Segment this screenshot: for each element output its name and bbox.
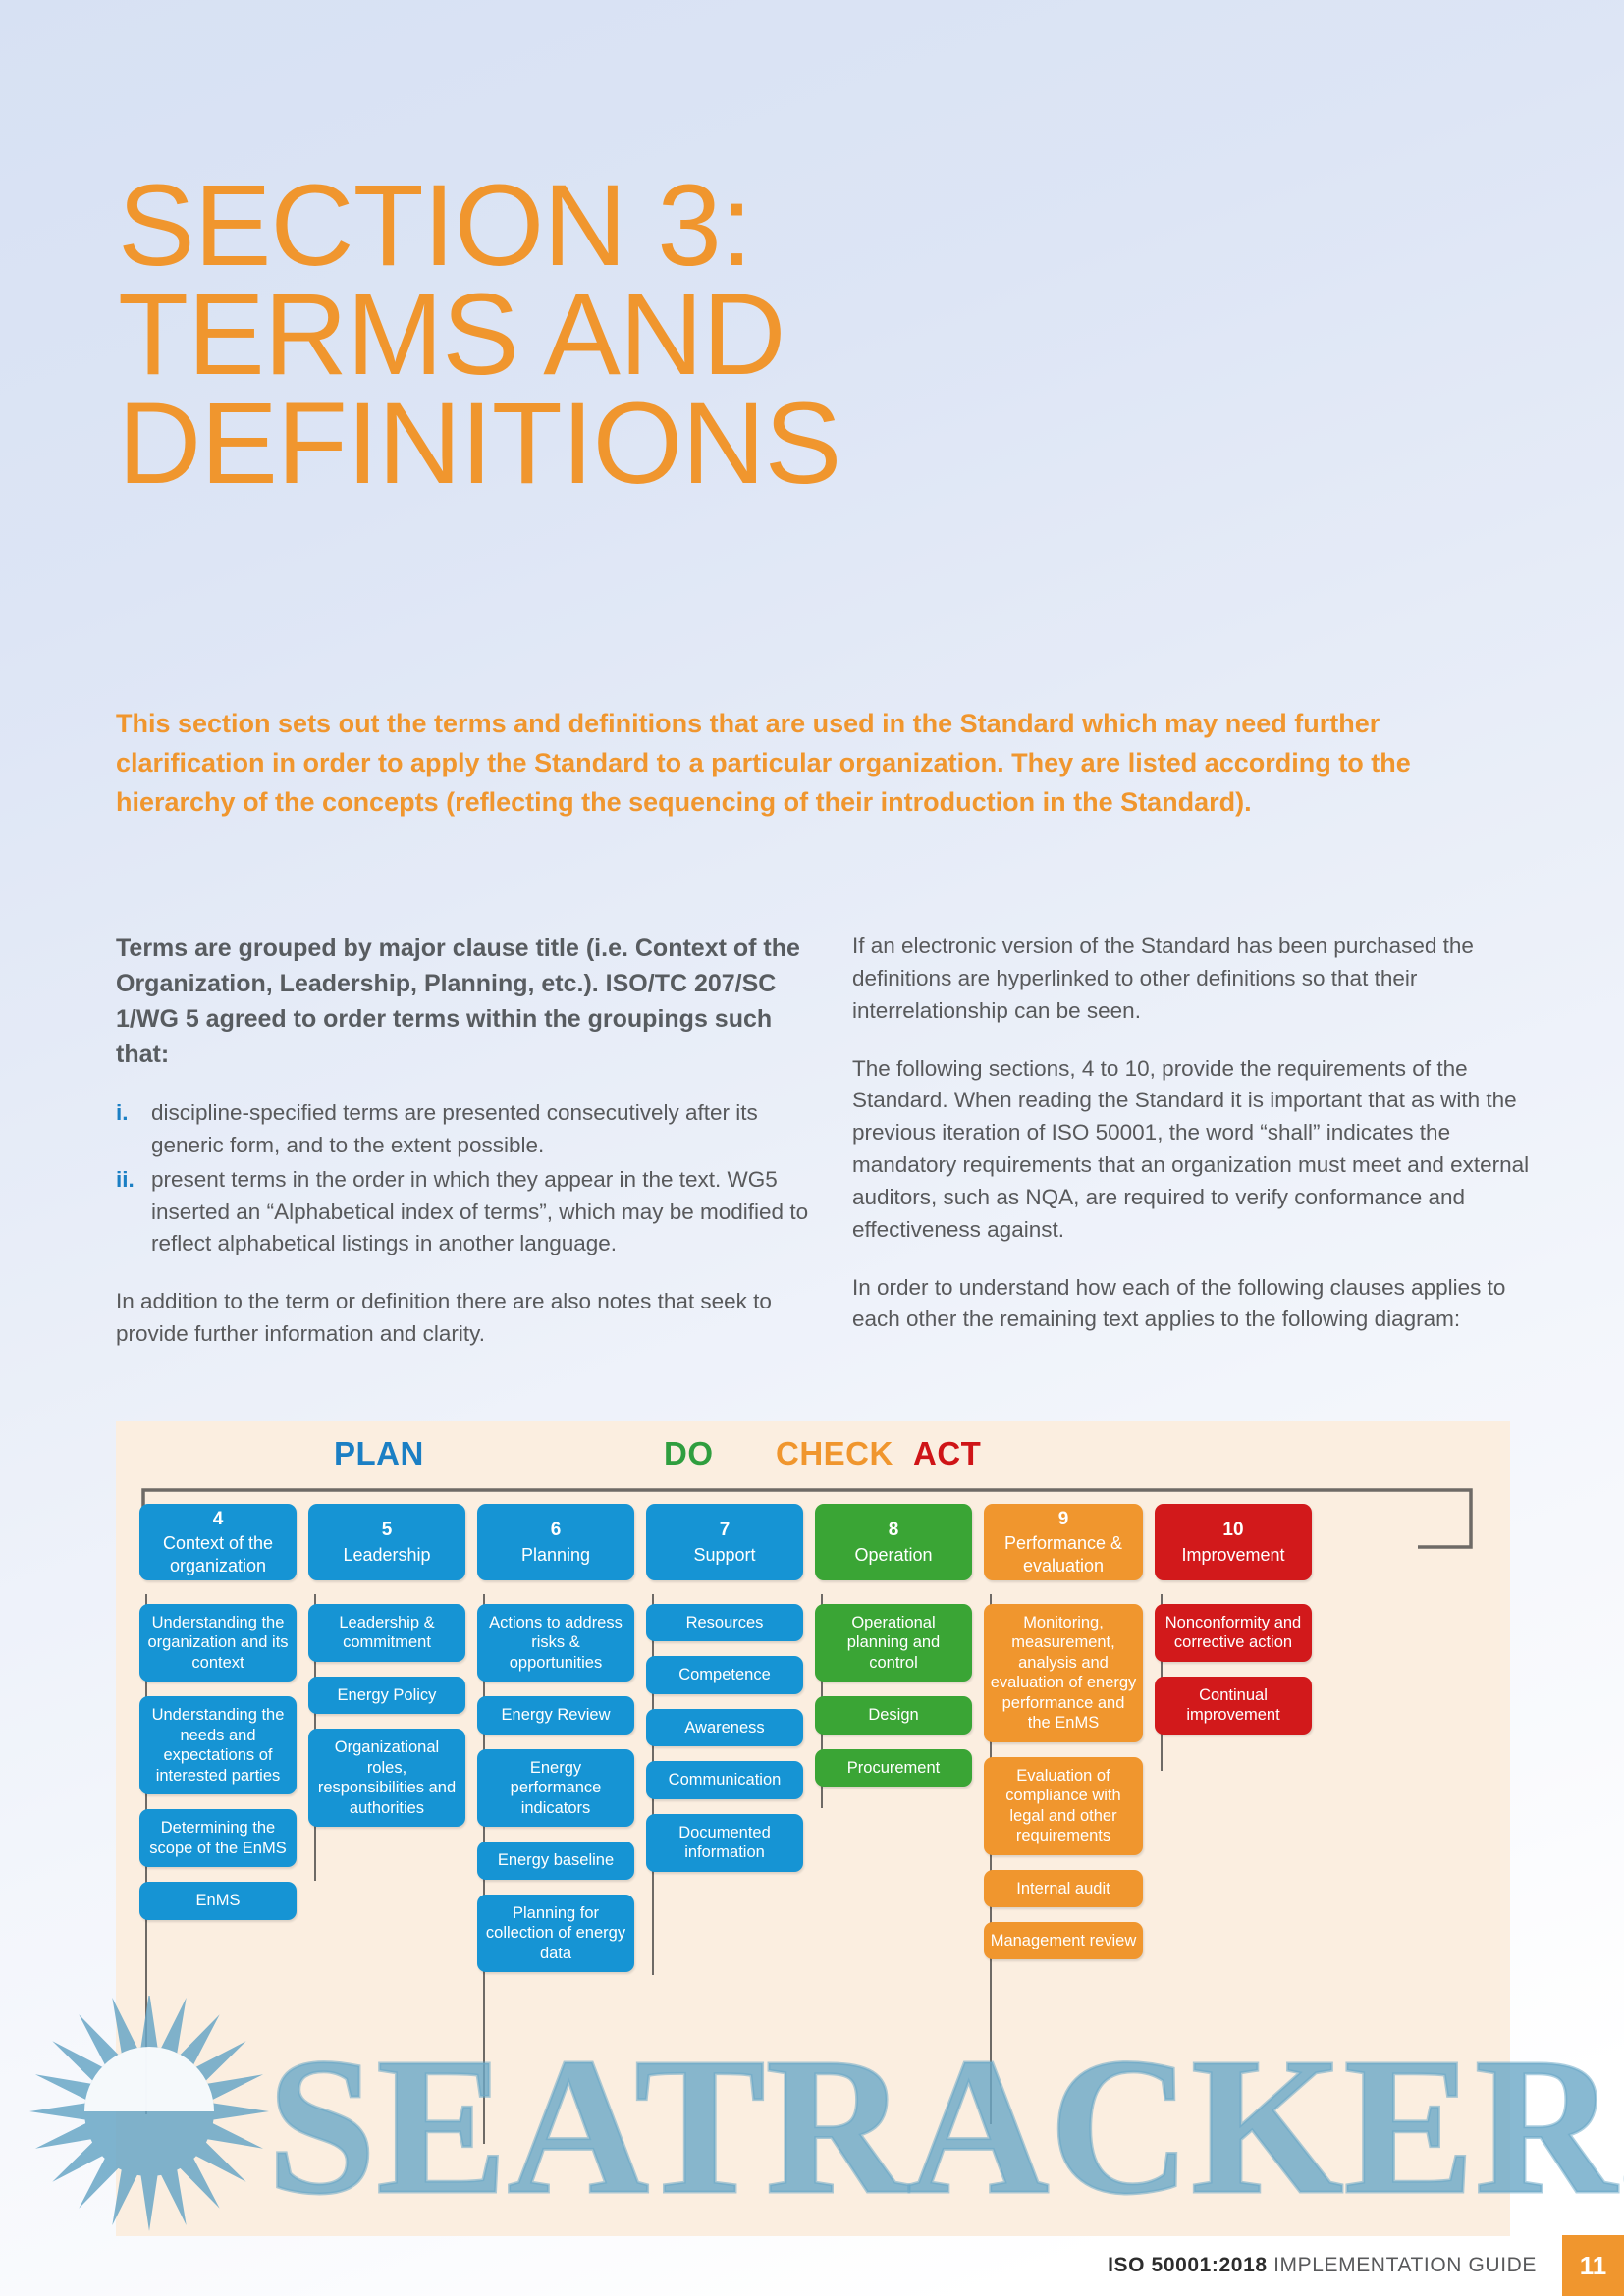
diagram-column-operation: 8 Operation Operational planning and con… xyxy=(809,1504,978,1987)
clause-child[interactable]: Energy Policy xyxy=(308,1677,465,1714)
clause-child[interactable]: Energy Review xyxy=(477,1696,634,1734)
clause-number: 7 xyxy=(720,1519,731,1542)
page-footer: ISO 50001:2018 IMPLEMENTATION GUIDE 11 xyxy=(1108,2235,1624,2296)
diagram-column-context: 4 Context of the organization Understand… xyxy=(134,1504,302,1987)
list-item: ii. present terms in the order in which … xyxy=(116,1164,813,1261)
clause-child[interactable]: Understanding the needs and expectations… xyxy=(139,1696,297,1794)
list-marker: i. xyxy=(116,1097,129,1130)
clause-label: Leadership xyxy=(343,1544,430,1566)
clause-label: Performance & evaluation xyxy=(990,1532,1137,1576)
clause-head-9[interactable]: 9 Performance & evaluation xyxy=(984,1504,1143,1580)
clause-child[interactable]: Understanding the organization and its c… xyxy=(139,1604,297,1682)
clause-child[interactable]: Awareness xyxy=(646,1709,803,1746)
clause-child[interactable]: Management review xyxy=(984,1922,1143,1959)
footer-guide-label: IMPLEMENTATION GUIDE xyxy=(1268,2254,1537,2276)
diagram-column-support: 7 Support Resources Competence Awareness… xyxy=(640,1504,809,1987)
list-item: i. discipline-specified terms are presen… xyxy=(116,1097,813,1162)
clause-child[interactable]: Monitoring, measurement, analysis and ev… xyxy=(984,1604,1143,1742)
footer-guide-title: ISO 50001:2018 IMPLEMENTATION GUIDE xyxy=(1108,2254,1562,2277)
clause-child[interactable]: Communication xyxy=(646,1761,803,1798)
clause-number: 10 xyxy=(1222,1519,1243,1542)
clause-child[interactable]: Actions to address risks & opportunities xyxy=(477,1604,634,1682)
clause-child[interactable]: Leadership & commitment xyxy=(308,1604,465,1662)
diagram-column-improvement: 10 Improvement Nonconformity and correct… xyxy=(1149,1504,1318,1987)
pdca-label-act: ACT xyxy=(913,1435,981,1472)
clause-child[interactable]: Energy baseline xyxy=(477,1842,634,1879)
clause-head-5[interactable]: 5 Leadership xyxy=(308,1504,465,1580)
footer-standard-code: ISO 50001:2018 xyxy=(1108,2254,1268,2276)
clause-label: Support xyxy=(693,1544,755,1566)
clause-child[interactable]: Procurement xyxy=(815,1749,972,1787)
title-line-3: DEFINITIONS xyxy=(118,390,1198,499)
pdca-label-check: CHECK xyxy=(776,1435,893,1472)
clause-child[interactable]: Determining the scope of the EnMS xyxy=(139,1809,297,1867)
clause-number: 5 xyxy=(382,1519,393,1542)
diagram-column-leadership: 5 Leadership Leadership & commitment Ene… xyxy=(302,1504,471,1987)
clause-child[interactable]: Competence xyxy=(646,1656,803,1693)
list-item-text: present terms in the order in which they… xyxy=(151,1167,808,1256)
diagram-column-planning: 6 Planning Actions to address risks & op… xyxy=(471,1504,640,1987)
clause-head-6[interactable]: 6 Planning xyxy=(477,1504,634,1580)
right-text-column: If an electronic version of the Standard… xyxy=(852,931,1530,1336)
clause-label: Operation xyxy=(854,1544,932,1566)
clause-child[interactable]: Design xyxy=(815,1696,972,1734)
clause-child[interactable]: Evaluation of compliance with legal and … xyxy=(984,1757,1143,1855)
clause-child[interactable]: Organizational roles, responsibilities a… xyxy=(308,1729,465,1827)
clause-label: Improvement xyxy=(1181,1544,1284,1566)
clause-child[interactable]: Energy performance indicators xyxy=(477,1749,634,1827)
right-paragraph-3: In order to understand how each of the f… xyxy=(852,1272,1530,1337)
clause-child[interactable]: Documented information xyxy=(646,1814,803,1872)
right-paragraph-2: The following sections, 4 to 10, provide… xyxy=(852,1053,1530,1247)
diagram-column-performance: 9 Performance & evaluation Monitoring, m… xyxy=(978,1504,1149,1987)
clause-number: 9 xyxy=(1058,1508,1069,1531)
clause-number: 6 xyxy=(551,1519,562,1542)
left-lead-paragraph: Terms are grouped by major clause title … xyxy=(116,931,813,1072)
pdca-label-do: DO xyxy=(664,1435,714,1472)
left-text-column: Terms are grouped by major clause title … xyxy=(116,931,813,1351)
clause-number: 8 xyxy=(889,1519,899,1542)
clause-child[interactable]: Planning for collection of energy data xyxy=(477,1895,634,1972)
page-title: SECTION 3: TERMS AND DEFINITIONS xyxy=(118,172,1198,499)
pdca-label-plan: PLAN xyxy=(334,1435,424,1472)
page-number-badge: 11 xyxy=(1562,2235,1624,2296)
title-line-1: SECTION 3: xyxy=(118,172,1198,281)
title-line-2: TERMS AND xyxy=(118,281,1198,390)
clause-head-8[interactable]: 8 Operation xyxy=(815,1504,972,1580)
clause-child[interactable]: Resources xyxy=(646,1604,803,1641)
pdca-header-row: PLAN DO CHECK ACT xyxy=(116,1435,1510,1486)
clause-child[interactable]: EnMS xyxy=(139,1882,297,1919)
clause-number: 4 xyxy=(213,1508,224,1531)
clause-child[interactable]: Nonconformity and corrective action xyxy=(1155,1604,1312,1662)
clause-child[interactable]: Operational planning and control xyxy=(815,1604,972,1682)
clause-head-7[interactable]: 7 Support xyxy=(646,1504,803,1580)
clause-label: Context of the organization xyxy=(145,1532,291,1576)
pdca-clause-diagram: PLAN DO CHECK ACT 4 Context of the organ… xyxy=(116,1421,1510,2236)
section-intro-paragraph: This section sets out the terms and defi… xyxy=(116,705,1520,823)
list-item-text: discipline-specified terms are presented… xyxy=(151,1100,758,1157)
clause-child[interactable]: Continual improvement xyxy=(1155,1677,1312,1735)
left-closing-paragraph: In addition to the term or definition th… xyxy=(116,1286,813,1351)
right-paragraph-1: If an electronic version of the Standard… xyxy=(852,931,1530,1028)
ordered-list-roman: i. discipline-specified terms are presen… xyxy=(116,1097,813,1260)
clause-label: Planning xyxy=(521,1544,590,1566)
clause-child[interactable]: Internal audit xyxy=(984,1870,1143,1907)
clause-head-10[interactable]: 10 Improvement xyxy=(1155,1504,1312,1580)
diagram-columns: 4 Context of the organization Understand… xyxy=(116,1504,1510,1987)
clause-head-4[interactable]: 4 Context of the organization xyxy=(139,1504,297,1580)
list-marker: ii. xyxy=(116,1164,135,1197)
